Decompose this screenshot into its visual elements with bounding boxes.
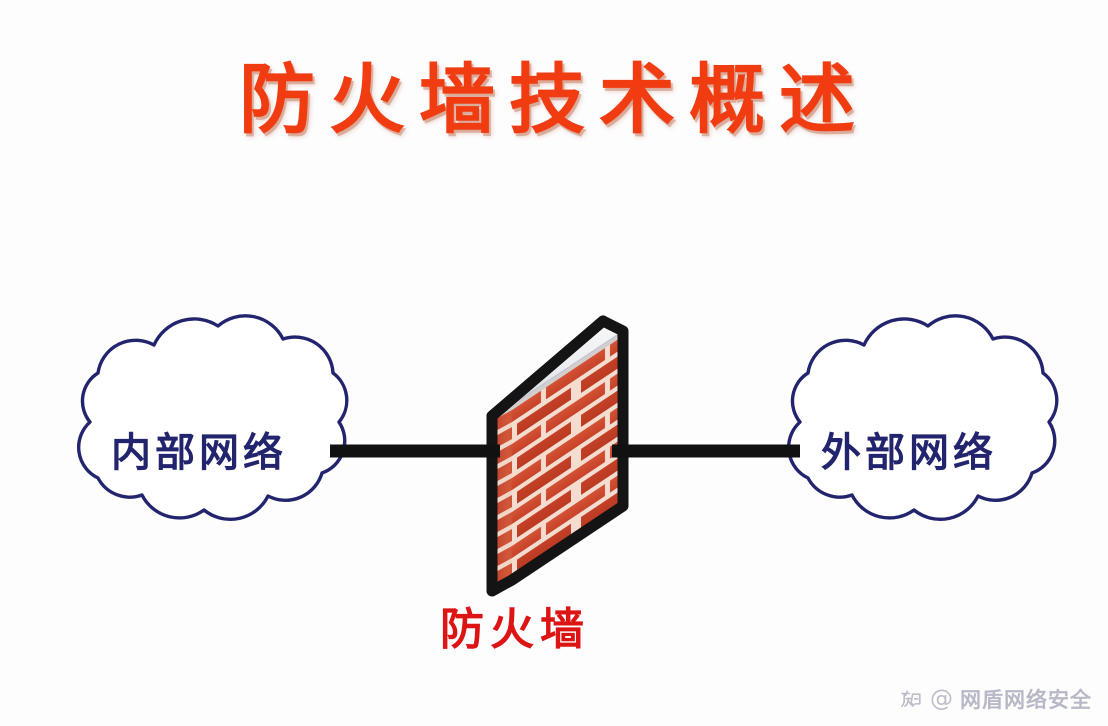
firewall-topology-diagram: 内部网络 外部网络 — [0, 0, 1108, 726]
external-network-label: 外部网络 — [821, 430, 997, 476]
firewall-label: 防火墙 — [440, 604, 590, 655]
internal-network-label: 内部网络 — [111, 430, 287, 476]
firewall-brick-wall-icon: 防火墙 — [330, 275, 800, 682]
watermark-at-symbol: @ — [930, 688, 953, 711]
slide-canvas: 防火墙技术概述 — [0, 0, 1108, 726]
zhihu-logo-icon — [899, 687, 923, 711]
watermark: @ 网盾网络安全 — [899, 684, 1092, 714]
external-network-cloud: 外部网络 — [789, 316, 1057, 520]
internal-network-cloud: 内部网络 — [79, 316, 347, 520]
watermark-account-name: 网盾网络安全 — [960, 684, 1092, 714]
